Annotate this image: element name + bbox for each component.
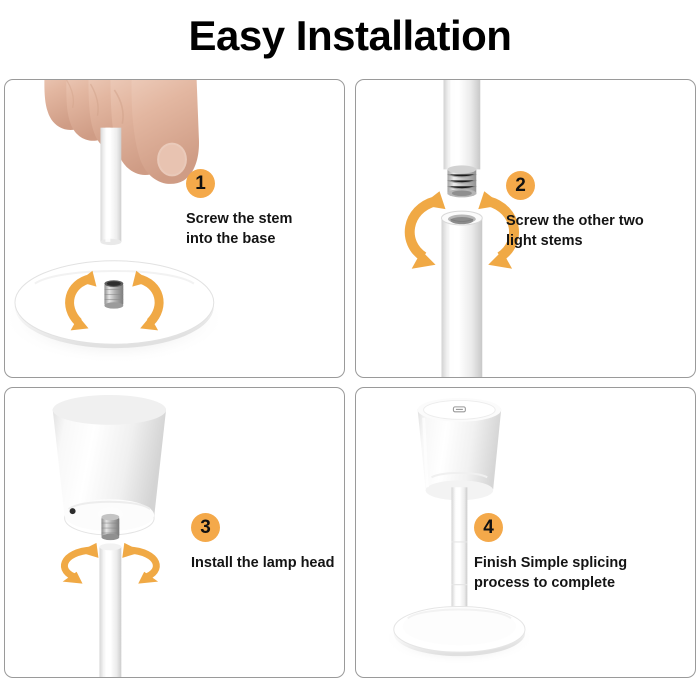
step-panel-1: 1 Screw the stem into the base bbox=[4, 79, 345, 378]
lower-stem bbox=[441, 211, 482, 377]
touch-control-icon bbox=[453, 407, 465, 412]
rotation-arrow-heads bbox=[63, 543, 158, 584]
rotation-arrows bbox=[410, 201, 514, 257]
step-4-text: Finish Simple splicing process to comple… bbox=[474, 553, 627, 593]
rotation-arrow-heads bbox=[71, 271, 158, 331]
hand bbox=[44, 80, 199, 184]
lamp-shade bbox=[418, 398, 502, 500]
step-2-caption: 2 Screw the other two light stems bbox=[506, 171, 644, 251]
step-panel-4: 4 Finish Simple splicing process to comp… bbox=[355, 387, 696, 678]
upper-stem bbox=[443, 80, 480, 169]
step-2-text: Screw the other two light stems bbox=[506, 211, 644, 251]
step-panel-3: 3 Install the lamp head bbox=[4, 387, 345, 678]
page-title: Easy Installation bbox=[0, 12, 700, 60]
step-3-caption: 3 Install the lamp head bbox=[191, 513, 334, 573]
lamp-base bbox=[394, 606, 525, 656]
step-number-badge-2: 2 bbox=[506, 171, 535, 200]
lamp-head-socket bbox=[101, 514, 119, 540]
step-panel-2: 2 Screw the other two light stems bbox=[355, 79, 696, 378]
sensor-dot bbox=[70, 508, 76, 514]
step-number-badge-4: 4 bbox=[474, 513, 503, 542]
lamp-stem bbox=[99, 543, 121, 677]
step-1-caption: 1 Screw the stem into the base bbox=[186, 169, 292, 249]
step-1-text: Screw the stem into the base bbox=[186, 209, 292, 249]
step-3-text: Install the lamp head bbox=[191, 553, 334, 573]
lamp-stem bbox=[100, 128, 121, 245]
lamp-base bbox=[15, 261, 214, 348]
step-1-illustration bbox=[5, 80, 344, 377]
screw-connector bbox=[104, 280, 123, 308]
rotation-arrows bbox=[64, 550, 156, 578]
step-4-caption: 4 Finish Simple splicing process to comp… bbox=[474, 513, 627, 593]
installation-infographic: Easy Installation bbox=[0, 0, 700, 700]
rotation-arrow-heads bbox=[412, 191, 512, 268]
lamp-shade bbox=[53, 395, 166, 535]
step-number-badge-1: 1 bbox=[186, 169, 215, 198]
male-thread bbox=[447, 165, 476, 197]
lamp-stem bbox=[451, 487, 467, 631]
step-number-badge-3: 3 bbox=[191, 513, 220, 542]
rotation-arrows bbox=[70, 279, 160, 323]
